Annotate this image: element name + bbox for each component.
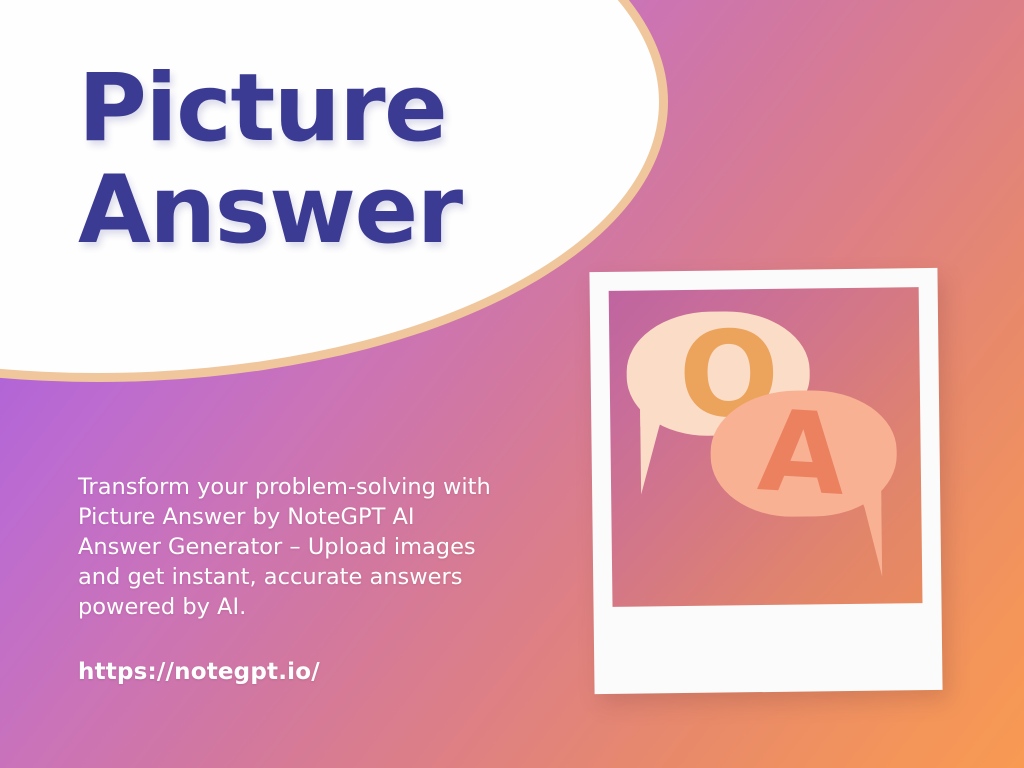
polaroid-photo: Q A bbox=[609, 287, 923, 607]
description-line-3: Answer Generator – Upload images bbox=[78, 532, 548, 562]
description-line-1: Transform your problem-solving with bbox=[78, 472, 548, 502]
answer-letter: A bbox=[756, 395, 849, 512]
description-line-2: Picture Answer by NoteGPT AI bbox=[78, 502, 548, 532]
description-text: Transform your problem-solving with Pict… bbox=[78, 472, 548, 622]
question-bubble-tail bbox=[640, 408, 667, 494]
answer-speech-bubble-icon: A bbox=[710, 389, 898, 517]
title-line-2: Answer bbox=[78, 160, 638, 262]
answer-bubble-tail bbox=[856, 489, 882, 577]
title-line-1: Picture bbox=[78, 58, 638, 160]
promo-poster: Picture Answer Transform your problem-so… bbox=[0, 0, 1024, 768]
website-url-link[interactable]: https://notegpt.io/ bbox=[78, 659, 320, 685]
description-line-5: powered by AI. bbox=[78, 592, 548, 622]
description-line-4: and get instant, accurate answers bbox=[78, 562, 548, 592]
page-title: Picture Answer bbox=[78, 58, 638, 261]
polaroid-card: Q A bbox=[589, 268, 942, 694]
